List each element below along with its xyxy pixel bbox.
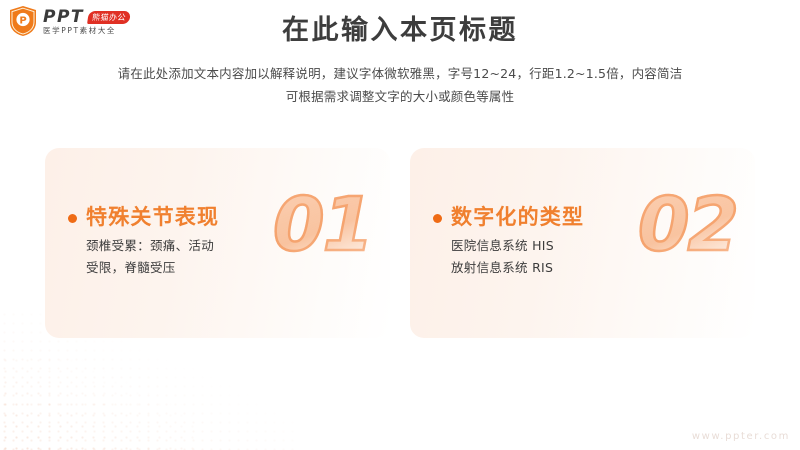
card-title: 特殊关节表现 (86, 206, 219, 229)
card-body: 颈椎受累：颈痛、活动 受限，脊髓受压 (86, 235, 380, 279)
subtitle-line-2: 可根据需求调整文字的大小或颜色等属性 (0, 85, 800, 108)
card-body-line: 医院信息系统 HIS (451, 235, 745, 257)
page-subtitle: 请在此处添加文本内容加以解释说明，建议字体微软雅黑，字号12~24，行距1.2~… (0, 62, 800, 108)
site-watermark: www.ppter.com (692, 431, 790, 442)
content-card-01[interactable]: 01 特殊关节表现 颈椎受累：颈痛、活动 受限，脊髓受压 (45, 148, 390, 338)
card-content: 数字化的类型 医院信息系统 HIS 放射信息系统 RIS (433, 206, 745, 279)
card-content: 特殊关节表现 颈椎受累：颈痛、活动 受限，脊髓受压 (68, 206, 380, 279)
card-header: 数字化的类型 (433, 206, 745, 229)
cards-container: 01 特殊关节表现 颈椎受累：颈痛、活动 受限，脊髓受压 02 数字化的类型 医… (45, 148, 755, 338)
bullet-dot-icon (68, 214, 77, 223)
page-title: 在此输入本页标题 (0, 14, 800, 48)
dot-pattern-background-dense (0, 355, 200, 450)
bullet-dot-icon (433, 214, 442, 223)
card-title: 数字化的类型 (451, 206, 584, 229)
content-card-02[interactable]: 02 数字化的类型 医院信息系统 HIS 放射信息系统 RIS (410, 148, 755, 338)
card-body-line: 放射信息系统 RIS (451, 257, 745, 279)
card-header: 特殊关节表现 (68, 206, 380, 229)
card-body: 医院信息系统 HIS 放射信息系统 RIS (451, 235, 745, 279)
subtitle-line-1: 请在此处添加文本内容加以解释说明，建议字体微软雅黑，字号12~24，行距1.2~… (0, 62, 800, 85)
card-body-line: 受限，脊髓受压 (86, 257, 380, 279)
card-body-line: 颈椎受累：颈痛、活动 (86, 235, 380, 257)
